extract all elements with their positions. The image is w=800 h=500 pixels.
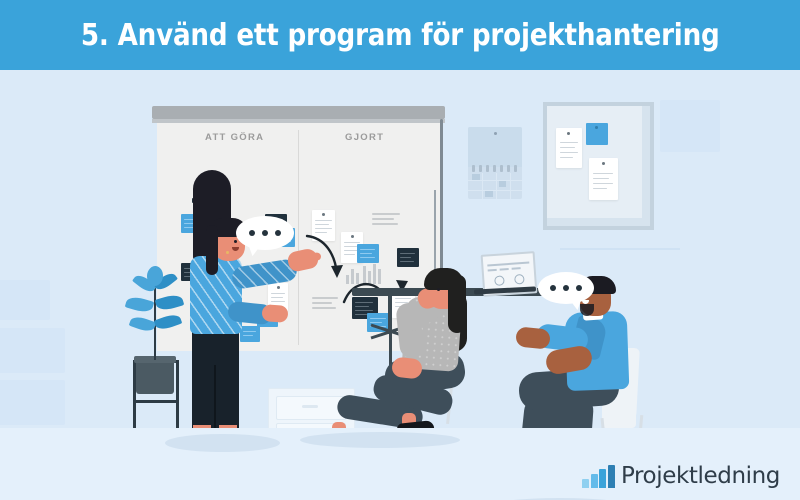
presenter-leg-split [214, 365, 216, 435]
shadow-seated-woman [300, 432, 460, 448]
calendar-grid-line [468, 180, 522, 181]
calendar-ring [472, 165, 475, 172]
kanban-note-done-4 [397, 248, 419, 267]
bubble-dot [550, 285, 556, 291]
man-hand-keyboard [515, 326, 551, 349]
shadow-presenter [165, 434, 280, 452]
calendar-grid-line [496, 173, 497, 199]
kanban-column-divider [298, 130, 299, 345]
bubble-dot [563, 285, 569, 291]
kanban-note-todo-8 [240, 326, 260, 342]
plant-stand-leg [176, 360, 179, 436]
seated-woman-hand-knee [391, 356, 423, 379]
seated-woman-hair-long [448, 275, 466, 333]
calendar-marked-day [472, 174, 480, 180]
wall-panel-left [0, 280, 50, 320]
illustration-scene: ATT GÖRA GJORT [0, 70, 800, 500]
brand-logo: Projektledning [582, 465, 780, 488]
wall-line-1 [560, 248, 680, 250]
laptop-ui-line [488, 269, 497, 271]
kanban-column-header-todo: ATT GÖRA [205, 132, 264, 143]
bubble-dot [262, 230, 268, 236]
calendar-ring [486, 165, 489, 172]
board-text-line-1 [372, 213, 400, 215]
wall-panel-left-2 [0, 328, 65, 373]
board-text-line-4 [312, 297, 338, 299]
calendar-pin [494, 132, 497, 135]
plant-stand-bar [133, 400, 179, 403]
kanban-column-header-done: GJORT [345, 132, 384, 143]
plant-leaf [129, 314, 157, 334]
whiteboard-top-rail [152, 106, 445, 119]
logo-bar-3 [599, 469, 606, 488]
logo-bar-2 [591, 474, 598, 488]
laptop-ui-line [487, 262, 529, 266]
presenter-earring [226, 251, 229, 254]
frame-sticky-note [586, 123, 608, 145]
logo-bars-icon [582, 466, 615, 488]
plant-pot [136, 358, 174, 394]
laptop-ui-line [512, 267, 521, 269]
presenter-hand-lower [261, 304, 288, 323]
board-text-line-3 [372, 223, 398, 225]
wall-panel-left-3 [0, 380, 65, 425]
calendar-ring [493, 165, 496, 172]
bubble-dot [249, 230, 255, 236]
board-text-line-2 [372, 218, 394, 220]
frame-document-2 [589, 158, 618, 200]
calendar-ring [479, 165, 482, 172]
man-speech-bubble [538, 272, 594, 304]
header-banner: 5. Använd ett program för projekthanteri… [0, 0, 800, 70]
calendar-marked-day [485, 191, 493, 197]
presenter-eye [234, 240, 237, 243]
bubble-dot [275, 230, 281, 236]
cabinet-drawer-top [276, 396, 346, 420]
calendar-marked-day [499, 181, 506, 187]
laptop-ui-node [494, 275, 505, 286]
seated-woman-eye [437, 288, 440, 291]
calendar-grid-line [468, 190, 522, 191]
logo-bar-1 [582, 479, 589, 488]
plant-leaf [125, 295, 155, 315]
page-title: 5. Använd ett program för projekthanteri… [81, 18, 720, 53]
infographic-canvas: 5. Använd ett program för projekthanteri… [0, 0, 800, 500]
calendar-ring [500, 165, 503, 172]
wall-panel-right [660, 100, 720, 152]
cabinet-handle-top [302, 405, 318, 408]
presenter-hair-side [206, 225, 218, 275]
calendar-ring [514, 165, 517, 172]
board-text-line-6 [312, 307, 336, 309]
presenter-speech-bubble [236, 216, 294, 250]
laptop-ui-line [500, 268, 509, 270]
calendar-ring [507, 165, 510, 172]
frame-document-1 [556, 128, 582, 168]
board-text-line-5 [312, 302, 332, 304]
calendar-grid-line [510, 173, 511, 199]
bubble-dot [576, 285, 582, 291]
laptop-ui-node [514, 274, 525, 285]
logo-text: Projektledning [621, 465, 780, 488]
wall-calendar [468, 127, 522, 199]
logo-bar-4 [608, 465, 615, 488]
calendar-grid-line [482, 173, 483, 199]
